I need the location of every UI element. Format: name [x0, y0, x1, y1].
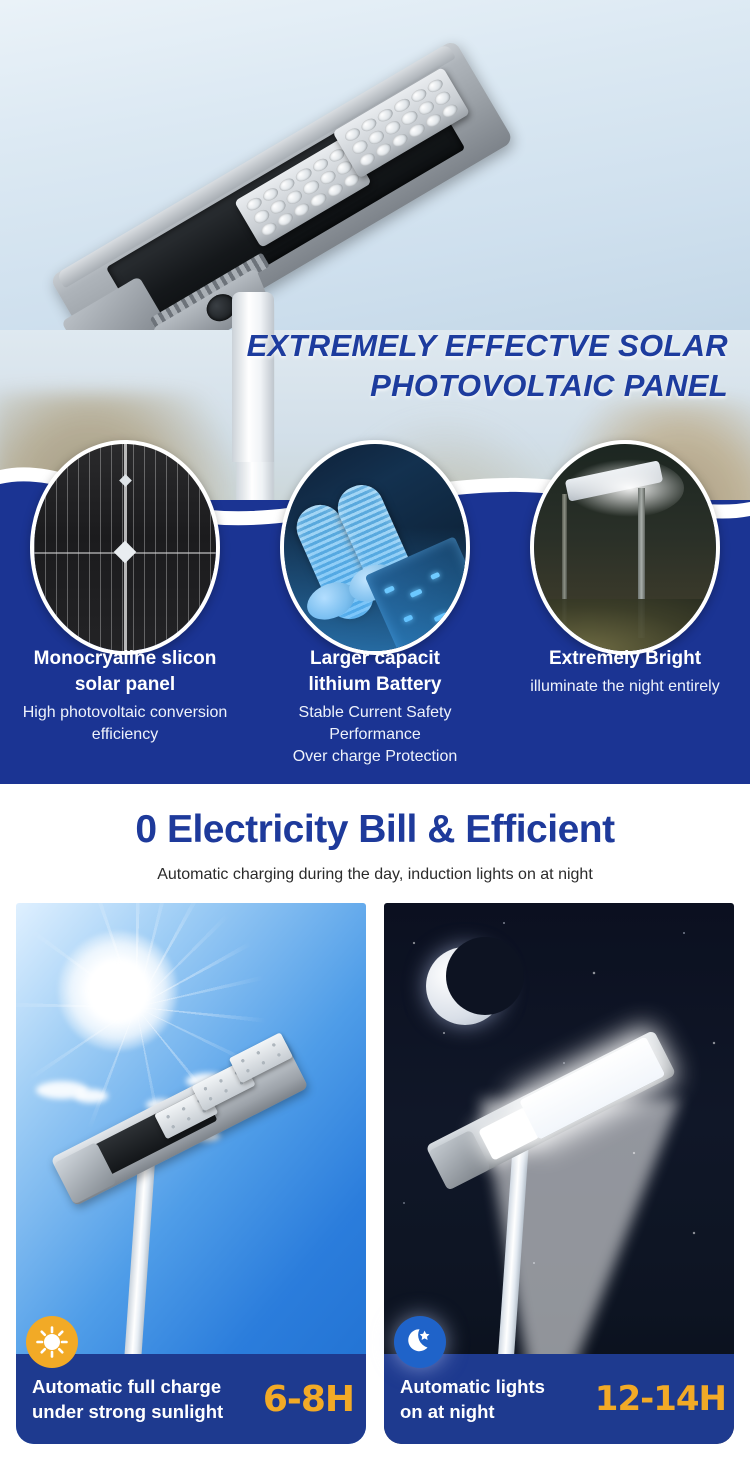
feature-sub-1: Stable Current Safety: [256, 702, 494, 724]
night-caption-bar: Automatic lights on at night 12-14H: [384, 1354, 734, 1444]
hero-headline: EXTREMELY EFFECTVE SOLAR PHOTOVOLTAIC PA…: [0, 326, 750, 406]
night-caption-line1: Automatic lights: [400, 1374, 595, 1399]
features-row: Monocryaline slicon solar panel High pho…: [0, 440, 750, 784]
feature-item-battery: Larger capacit lithium Battery Stable Cu…: [250, 440, 500, 784]
day-caption-text: Automatic full charge under strong sunli…: [32, 1374, 263, 1424]
night-caption-line2: on at night: [400, 1399, 595, 1424]
day-caption-line2: under strong sunlight: [32, 1399, 263, 1424]
sun-glow: [58, 931, 178, 1051]
feature-heading: Larger capacit: [256, 646, 494, 672]
feature-sub-2: Performance: [256, 724, 494, 746]
night-hours-value: 12-14H: [595, 1379, 734, 1419]
sun-icon: [35, 1325, 69, 1359]
feature-item-solar-panel: Monocryaline slicon solar panel High pho…: [0, 440, 250, 784]
feature-sub-2: efficiency: [6, 724, 244, 746]
feature-heading-2: lithium Battery: [256, 672, 494, 698]
feature-thumb-battery: [280, 440, 470, 655]
hero-headline-line2: PHOTOVOLTAIC PANEL: [0, 366, 728, 406]
hero-headline-line1: EXTREMELY EFFECTVE SOLAR: [0, 326, 728, 366]
day-caption-bar: Automatic full charge under strong sunli…: [16, 1354, 366, 1444]
feature-sub-3: Over charge Protection: [256, 746, 494, 768]
moon-badge: [394, 1316, 446, 1368]
sun-badge: [26, 1316, 78, 1368]
day-hours-value: 6-8H: [263, 1379, 366, 1420]
feature-heading-2: solar panel: [6, 672, 244, 698]
section-subtitle: Automatic charging during the day, induc…: [0, 866, 750, 884]
day-caption-line1: Automatic full charge: [32, 1374, 263, 1399]
feature-sub-1: illuminate the night entirely: [506, 676, 744, 698]
feature-heading: Monocryaline slicon: [6, 646, 244, 672]
product-marketing-page: EXTREMELY EFFECTVE SOLAR PHOTOVOLTAIC PA…: [0, 0, 750, 1467]
feature-heading: Extremely Bright: [506, 646, 744, 672]
feature-item-brightness: Extremely Bright illuminate the night en…: [500, 440, 750, 784]
night-caption-text: Automatic lights on at night: [400, 1374, 595, 1424]
feature-thumb-brightness: [530, 440, 720, 655]
moon-star-icon: [403, 1325, 437, 1359]
feature-thumb-solar-panel: [30, 440, 220, 655]
section-title: 0 Electricity Bill & Efficient: [0, 808, 750, 852]
feature-sub-1: High photovoltaic conversion: [6, 702, 244, 724]
